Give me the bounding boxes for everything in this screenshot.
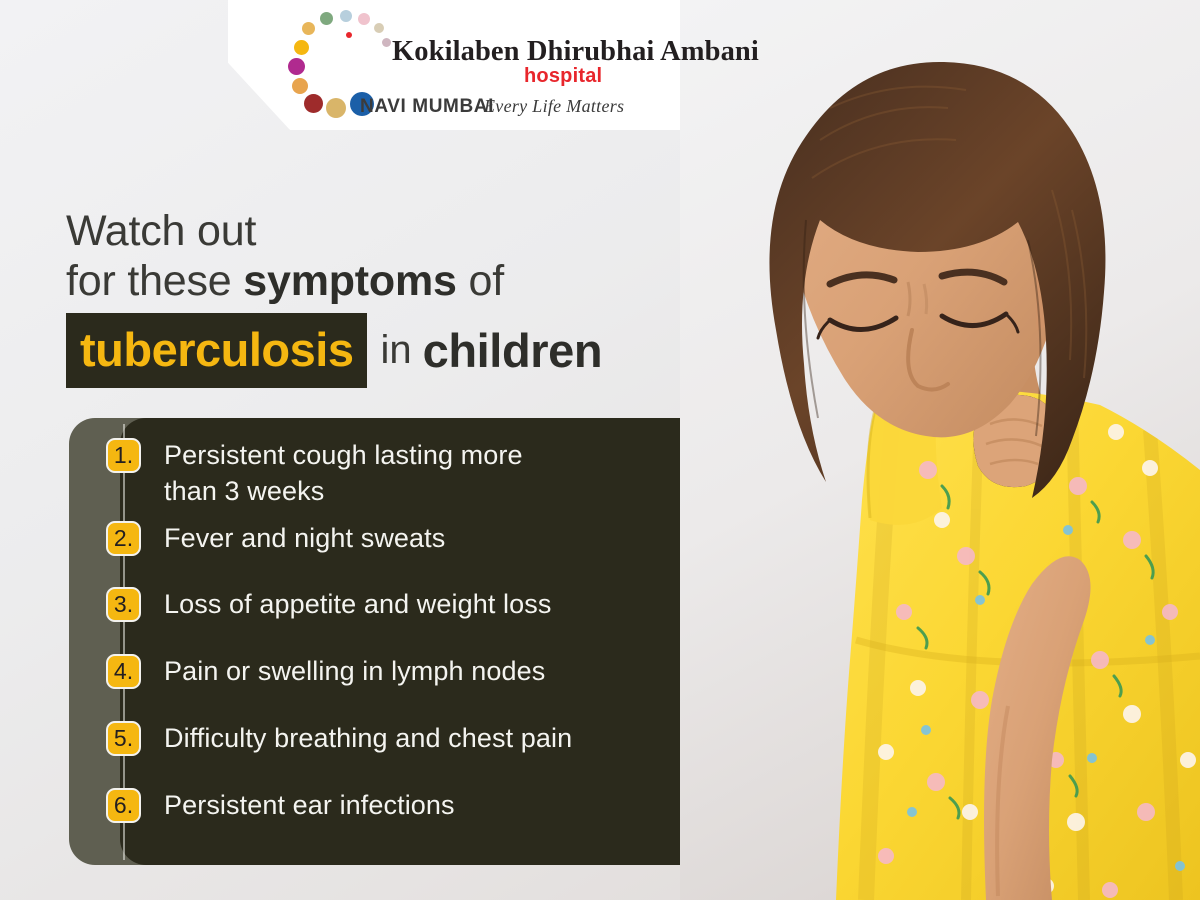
child-coughing-photo [680, 0, 1200, 900]
list-item-number: 1. [106, 438, 141, 473]
list-item-label: Pain or swelling in lymph nodes [164, 654, 545, 690]
child-illustration [680, 0, 1200, 900]
list-item-label: Difficulty breathing and chest pain [164, 721, 572, 757]
list-item-number: 2. [106, 521, 141, 556]
list-item-label: Loss of appetite and weight loss [164, 587, 551, 623]
list-item-number: 4. [106, 654, 141, 689]
list-item-number: 6. [106, 788, 141, 823]
list-item: 4. Pain or swelling in lymph nodes [106, 654, 545, 690]
list-item: 3. Loss of appetite and weight loss [106, 587, 551, 623]
list-item-label: Persistent ear infections [164, 788, 455, 824]
list-item-number: 3. [106, 587, 141, 622]
list-item-label: Fever and night sweats [164, 521, 445, 557]
list-item: 6. Persistent ear infections [106, 788, 455, 824]
symptoms-list: 1. Persistent cough lasting more than 3 … [0, 0, 680, 447]
list-item: 1. Persistent cough lasting more than 3 … [106, 438, 523, 509]
list-item-label: Persistent cough lasting more than 3 wee… [164, 438, 523, 509]
list-item-number: 5. [106, 721, 141, 756]
list-item: 5. Difficulty breathing and chest pain [106, 721, 572, 757]
infographic-canvas: 24x7 HELPLINE 022-71-97-97-97 Kokilaben … [0, 0, 1200, 900]
list-item: 2. Fever and night sweats [106, 521, 445, 557]
